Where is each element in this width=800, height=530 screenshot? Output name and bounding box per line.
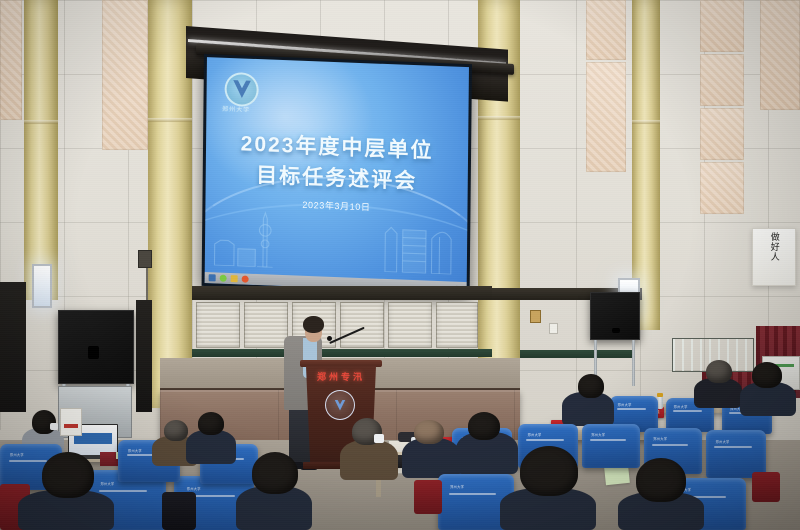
bottle-cap-icon <box>657 393 663 397</box>
stage-back-upper-band <box>192 286 492 300</box>
browser-icon[interactable] <box>220 275 227 282</box>
attendee-head <box>198 412 224 435</box>
seat-cover-logo-icon: 郑州大学 <box>618 402 632 407</box>
wall-accent-tile <box>700 162 744 214</box>
operator-head <box>32 410 56 434</box>
podium-top-surface <box>300 360 382 367</box>
projection-screen-slide: 郑州大学 2023年度中层单位 目标任务述评会 2023年3月10日 <box>205 57 469 293</box>
seat-cover-logo-icon: 郑州大学 <box>187 486 201 491</box>
left-wall-poster <box>60 408 82 436</box>
projection-screen-frame: 郑州大学 2023年度中层单位 目标任务述评会 2023年3月10日 <box>202 54 472 296</box>
stage-back-louver-panel <box>340 302 384 348</box>
seat-frame-red <box>752 472 780 502</box>
seat-frame-red <box>414 480 442 514</box>
presenter-legs <box>289 404 311 466</box>
seat-cover-logo-icon: 郑州大学 <box>653 436 667 441</box>
wall-accent-tile <box>700 108 744 160</box>
attendee-head <box>414 420 444 444</box>
microphone-head-icon <box>327 336 332 341</box>
speaker-port-icon <box>612 328 620 333</box>
seat-cover-logo-icon: 郑州大学 <box>100 481 114 486</box>
app-icon[interactable] <box>242 275 249 282</box>
face-mask-icon <box>50 423 58 430</box>
seat-cover-logo-icon: 郑州大学 <box>450 484 464 489</box>
presenter-head <box>303 316 324 333</box>
wall-accent-tile <box>586 0 626 60</box>
attendee-head-foreground <box>520 446 578 496</box>
seat: 郑州大学 <box>582 424 640 468</box>
attendee-head <box>164 420 188 441</box>
attendee-head <box>752 362 782 388</box>
stage-back-louver-panel <box>196 302 240 348</box>
stage-back-louver-panel <box>436 302 478 348</box>
podium-front-text: 郑州专汛 <box>306 370 376 383</box>
speaker-stand <box>632 340 635 386</box>
hall-doorway-center-left <box>136 300 152 412</box>
wall-accent-tile <box>760 0 800 110</box>
face-mask-icon <box>374 434 384 443</box>
attendee-shoulders <box>340 440 398 480</box>
stage-back-dado <box>192 349 492 357</box>
attendee-head-foreground <box>636 458 686 502</box>
stage-back-louver-panel <box>244 302 288 348</box>
calligraphy-banner: 做好人 <box>752 228 796 286</box>
wall-accent-tile <box>102 0 148 150</box>
seat-back-dark <box>162 492 196 530</box>
attendee-shoulders <box>186 430 236 464</box>
wall-accent-tile <box>700 54 744 106</box>
seat-cover-logo-icon: 郑州大学 <box>528 432 542 437</box>
slide-org-logo-icon <box>225 71 259 106</box>
speaker-port-icon <box>88 346 99 359</box>
attendee-shoulders <box>402 438 460 478</box>
attendee-head-foreground <box>252 452 298 494</box>
attendee-head <box>468 412 500 440</box>
podium-emblem-icon <box>325 390 355 420</box>
wall-accent-tile <box>700 0 744 52</box>
seat: 郑州大学 <box>706 430 766 478</box>
hall-column-left <box>24 0 58 300</box>
stage-back-louver-panel <box>388 302 432 348</box>
wall-accent-tile <box>586 62 626 172</box>
slide-skyline-graphic <box>205 197 465 275</box>
wall-junction-box <box>138 250 152 268</box>
wall-light-icon <box>32 264 52 308</box>
start-icon[interactable] <box>209 274 216 281</box>
banner-text: 做好人 <box>769 232 778 262</box>
attendee-head <box>578 374 604 398</box>
attendee-head-foreground <box>42 452 94 498</box>
seat-cover-logo-icon: 郑州大学 <box>10 452 24 457</box>
seat-cover-logo-icon: 郑州大学 <box>591 432 605 437</box>
attendee-head <box>706 360 732 383</box>
slide-org-name: 郑州大学 <box>222 104 250 114</box>
wall-switch-panel <box>549 323 558 334</box>
folder-icon[interactable] <box>231 275 238 282</box>
wall-frame-small <box>530 310 541 323</box>
wall-accent-tile <box>0 0 22 120</box>
conference-hall-photo: 郑州大学 2023年度中层单位 目标任务述评会 2023年3月10日 <box>0 0 800 530</box>
poster-accent <box>64 424 78 428</box>
seat-cover-logo-icon: 郑州大学 <box>716 439 730 444</box>
stage-back-dado-right <box>520 350 632 358</box>
hall-doorway-left <box>0 282 26 412</box>
seat-cover-logo-icon: 郑州大学 <box>128 448 142 453</box>
seat-cover-logo-icon: 郑州大学 <box>674 404 688 409</box>
